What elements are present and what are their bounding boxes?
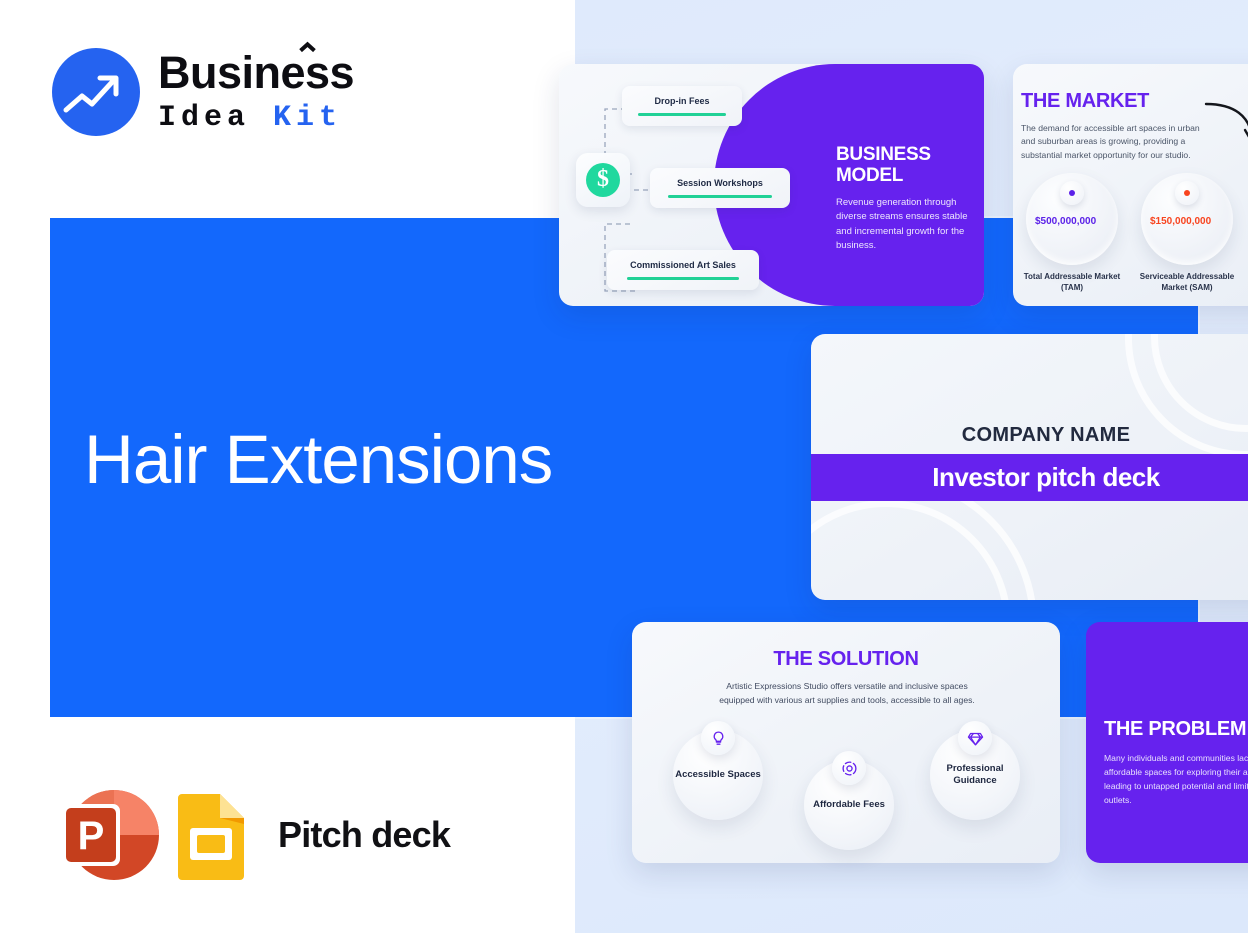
google-slides-icon [172,790,252,880]
dollar-sign-icon: $ [576,153,630,207]
brand-wordmark: Business Idea Kit [158,50,354,135]
format-label: Pitch deck [278,814,450,856]
cover-subtitle: Investor pitch deck [811,454,1248,501]
sam-caption: Serviceable Addressable Market (SAM) [1132,272,1242,294]
tam-value: $500,000,000 [1035,216,1096,227]
tam-caption: Total Addressable Market (TAM) [1017,272,1127,294]
target-circle-icon [832,751,866,785]
market-title: THE MARKET [1021,90,1149,113]
brand-logo: Business Idea Kit [52,48,354,136]
business-model-title: BUSINESS MODEL [836,144,981,187]
underline-bar [627,277,739,280]
cover-company-name: COMPANY NAME [811,424,1248,447]
svg-text:P: P [78,814,105,858]
slide-the-problem[interactable] [1086,622,1248,863]
circumflex-accent-icon [300,41,316,51]
sam-value: $150,000,000 [1150,216,1211,227]
diamond-icon [958,721,992,755]
sam-knob-icon [1175,181,1199,205]
cover-subtitle-band: Investor pitch deck [811,454,1248,501]
solution-title: THE SOLUTION [632,648,1060,671]
brand-name-idea-kit: Idea Kit [158,101,354,135]
curved-arrow-icon [1204,100,1248,160]
business-model-item[interactable]: Session Workshops [650,168,790,208]
business-model-item[interactable]: Drop-in Fees [622,86,742,126]
underline-bar [638,113,727,116]
brand-name-kit: Kit [273,101,342,135]
lightbulb-icon [701,721,735,755]
underline-bar [668,195,772,198]
brand-name-idea: Idea [158,101,250,135]
problem-body: Many individuals and communities lack ac… [1104,752,1248,808]
business-model-body: Revenue generation through diverse strea… [836,196,984,253]
format-badges: P Pitch deck [52,790,450,880]
tam-knob-icon [1060,181,1084,205]
market-body: The demand for accessible art spaces in … [1021,122,1216,162]
page-title: Hair Extensions [84,424,684,496]
solution-body: Artistic Expressions Studio offers versa… [712,680,982,708]
business-model-item[interactable]: Commissioned Art Sales [607,250,759,290]
problem-title: THE PROBLEM [1104,718,1246,741]
brand-name-business: Business [158,50,354,95]
growth-chart-circle-icon [52,48,140,136]
microsoft-powerpoint-icon: P [52,790,164,880]
